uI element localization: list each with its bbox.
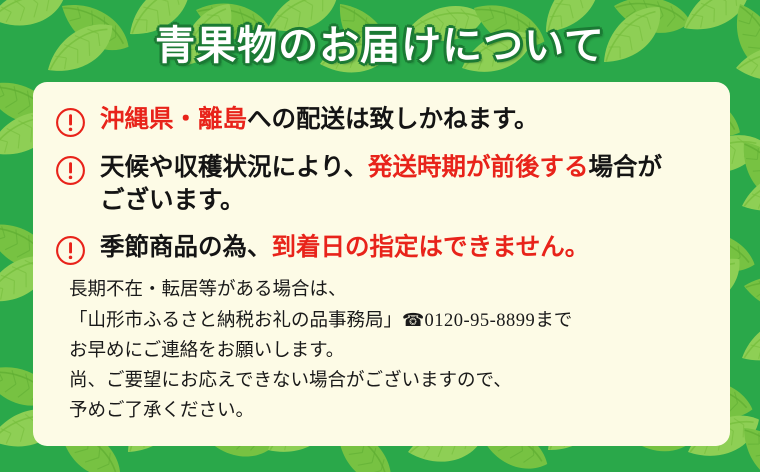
- footnote-block: 長期不在・転居等がある場合は、 「山形市ふるさと納税お礼の品事務局」☎0120-…: [55, 276, 708, 427]
- notice-item-1-text: 沖縄県・離島への配送は致しかねます。: [100, 104, 539, 137]
- notice-2-black-segment-b: 場合が: [589, 154, 663, 181]
- notice-3-black-segment: 季節商品の為、: [100, 234, 272, 261]
- notice-item-2: 天候や収穫状況により、発送時期が前後する場合がございます。: [55, 152, 708, 218]
- notice-3-red-segment: 到着日の指定はできません。: [272, 234, 590, 261]
- footnote-line-5: 予めご了承ください。: [69, 397, 708, 427]
- footnote-line-2-suffix: まで: [535, 311, 572, 331]
- exclamation-circle-icon: [55, 107, 86, 138]
- notice-2-black-segment-c: ございます。: [100, 187, 245, 214]
- footnote-line-1: 長期不在・転居等がある場合は、: [69, 276, 708, 306]
- banner-stage: 青果物のお届けについて 沖縄県・離島への配送は致しかねます。: [0, 0, 760, 472]
- title-band: 青果物のお届けについて: [0, 8, 760, 76]
- notice-2-red-segment: 発送時期が前後する: [368, 154, 589, 181]
- footnote-line-2: 「山形市ふるさと納税お礼の品事務局」☎0120-95-8899まで: [69, 306, 708, 337]
- footnote-office-name: 「山形市ふるさと納税お礼の品事務局」: [69, 311, 402, 331]
- page-title: 青果物のお届けについて: [155, 13, 605, 71]
- exclamation-circle-icon: [55, 235, 86, 266]
- notice-1-red-segment: 沖縄県・離島: [100, 106, 247, 133]
- footnote-line-3: お早めにご連絡をお願いします。: [69, 337, 708, 367]
- notice-item-2-text: 天候や収穫状況により、発送時期が前後する場合がございます。: [100, 152, 662, 218]
- notice-item-3: 季節商品の為、到着日の指定はできません。: [55, 232, 708, 266]
- telephone-icon: ☎: [402, 310, 424, 331]
- notice-2-black-segment-a: 天候や収穫状況により、: [100, 154, 368, 181]
- footnote-line-4: 尚、ご要望にお応えできない場合がございますので、: [69, 367, 708, 397]
- telephone-number[interactable]: 0120-95-8899: [424, 311, 535, 331]
- notice-item-1: 沖縄県・離島への配送は致しかねます。: [55, 104, 708, 138]
- notice-1-black-segment: への配送は致しかねます。: [247, 106, 539, 133]
- exclamation-circle-icon: [55, 155, 86, 186]
- notice-item-3-text: 季節商品の為、到着日の指定はできません。: [100, 232, 589, 265]
- notice-card: 沖縄県・離島への配送は致しかねます。 天候や収穫状況により、発送時期が前後する場…: [33, 82, 730, 446]
